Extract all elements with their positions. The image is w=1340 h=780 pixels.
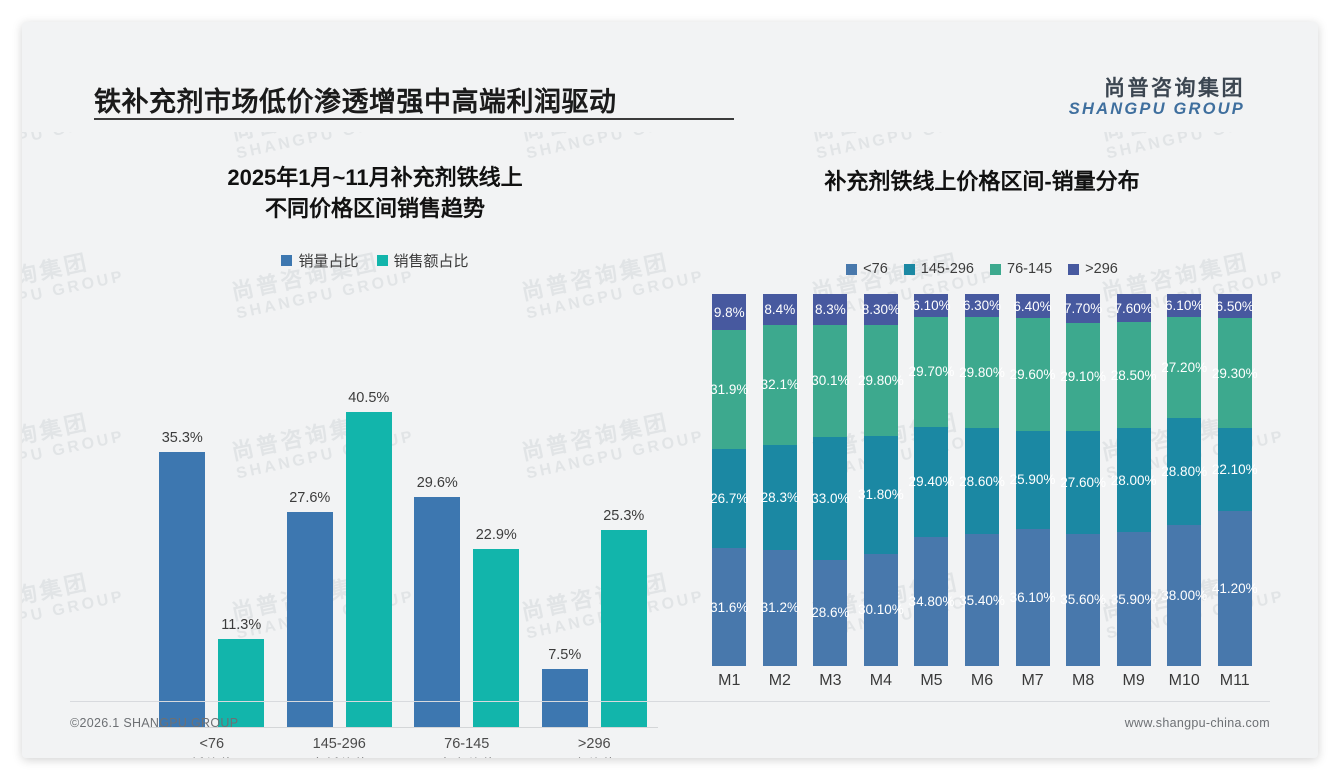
stack-segment[interactable]: 29.40% <box>914 427 948 536</box>
x-tick-range: <76 <box>148 734 276 756</box>
bar[interactable] <box>159 452 205 727</box>
stack-segment[interactable]: 35.40% <box>965 534 999 666</box>
stack-segment[interactable]: 6.50% <box>1218 294 1252 318</box>
bar-value-label: 35.3% <box>162 430 203 446</box>
x-tick-M8: M8 <box>1058 672 1109 690</box>
stack-segment-label: 29.10% <box>1060 369 1106 384</box>
bar-column[interactable]: 11.3% <box>218 639 264 727</box>
stack-segment-label: 30.1% <box>811 373 849 388</box>
stack-segment[interactable]: 26.7% <box>712 449 746 548</box>
left-chart-panel: 2025年1月~11月补充剂铁线上 不同价格区间销售趋势 销量占比销售额占比 3… <box>70 134 680 704</box>
stack-segment-label: 7.70% <box>1064 301 1102 316</box>
stack-segment[interactable]: 33.0% <box>813 437 847 560</box>
stack-segment[interactable]: 41.20% <box>1218 511 1252 666</box>
legend-item-0[interactable]: <76 <box>846 261 888 277</box>
stack-segment-label: 8.3% <box>815 302 846 317</box>
stack-segment-label: 35.40% <box>959 593 1005 608</box>
stack-segment[interactable]: 30.10% <box>864 554 898 666</box>
stack-segment-label: 6.10% <box>912 298 950 313</box>
stack-segment-label: 35.90% <box>1111 592 1157 607</box>
stack-segment[interactable]: 28.3% <box>763 445 797 550</box>
stack-segment[interactable]: 22.10% <box>1218 428 1252 511</box>
stacked-column-M11: 6.50%29.30%22.10%41.20% <box>1209 294 1260 666</box>
stack-segment-label: 29.40% <box>909 474 955 489</box>
stack-segment[interactable]: 29.30% <box>1218 318 1252 428</box>
stacked-bar[interactable]: 7.70%29.10%27.60%35.60% <box>1066 294 1100 666</box>
stack-segment-label: 28.50% <box>1111 368 1157 383</box>
stack-segment-label: 28.60% <box>959 474 1005 489</box>
footer-website: www.shangpu-china.com <box>1125 716 1270 730</box>
stack-segment-label: 31.2% <box>761 600 799 615</box>
stack-segment[interactable]: 29.70% <box>914 317 948 427</box>
x-tick-range: 145-296 <box>276 734 404 756</box>
legend-item-2[interactable]: 76-145 <box>990 261 1052 277</box>
right-chart-title: 补充剂铁线上价格区间-销量分布 <box>682 134 1282 197</box>
slide-header: 铁补充剂市场低价渗透增强中高端利润驱动 尚普咨询集团 SHANGPU GROUP <box>22 22 1318 118</box>
legend-item-0[interactable]: 销量占比 <box>281 250 358 271</box>
stack-segment-label: 29.80% <box>858 373 904 388</box>
bar-value-label: 22.9% <box>476 527 517 543</box>
stack-segment-label: 9.8% <box>714 305 745 320</box>
stack-segment-label: 8.30% <box>862 302 900 317</box>
stack-segment[interactable]: 31.80% <box>864 436 898 554</box>
bar[interactable] <box>287 512 333 727</box>
stack-segment-label: 6.50% <box>1216 299 1254 314</box>
stack-segment-label: 34.80% <box>909 594 955 609</box>
x-tick-M10: M10 <box>1159 672 1210 690</box>
stack-segment-label: 29.70% <box>909 364 955 379</box>
bar-column[interactable]: 40.5% <box>346 412 392 727</box>
stack-segment-label: 36.10% <box>1010 590 1056 605</box>
bar[interactable] <box>601 530 647 727</box>
x-tick-<76: <76(低价位) <box>148 734 276 758</box>
bar-value-label: 11.3% <box>221 617 261 633</box>
stack-segment[interactable]: 35.60% <box>1066 534 1100 666</box>
stack-segment-label: 41.20% <box>1212 581 1258 596</box>
legend-swatch-icon <box>377 255 388 266</box>
page-title: 铁补充剂市场低价渗透增强中高端利润驱动 <box>94 80 617 119</box>
x-tick-M5: M5 <box>906 672 957 690</box>
stacked-bar[interactable]: 9.8%31.9%26.7%31.6% <box>712 294 746 666</box>
bar-value-label: 29.6% <box>417 475 458 491</box>
right-chart-stacked-bars: 9.8%31.9%26.7%31.6%8.4%32.1%28.3%31.2%8.… <box>704 294 1260 666</box>
x-tick-sublabel: (中高价位) <box>403 756 531 758</box>
stack-segment-label: 8.4% <box>764 302 795 317</box>
stack-segment-label: 31.9% <box>710 382 748 397</box>
right-chart-panel: 补充剂铁线上价格区间-销量分布 <76145-29676-145>296 9.8… <box>682 134 1282 704</box>
left-chart-title-line2: 不同价格区间销售趋势 <box>70 193 680 224</box>
x-tick-M4: M4 <box>856 672 907 690</box>
stack-segment[interactable]: 27.20% <box>1167 317 1201 418</box>
stack-segment[interactable]: 35.90% <box>1117 532 1151 666</box>
bar[interactable] <box>346 412 392 727</box>
stack-segment[interactable]: 8.30% <box>864 294 898 325</box>
stack-segment-label: 28.3% <box>761 490 799 505</box>
stacked-bar[interactable]: 8.4%32.1%28.3%31.2% <box>763 294 797 666</box>
legend-item-label: 145-296 <box>921 261 974 277</box>
stacked-column-M10: 6.10%27.20%28.80%38.00% <box>1159 294 1210 666</box>
stack-segment[interactable]: 8.4% <box>763 294 797 325</box>
bar-value-label: 7.5% <box>548 647 581 663</box>
stack-segment[interactable]: 29.80% <box>965 317 999 428</box>
legend-item-label: 销售额占比 <box>394 250 469 271</box>
stacked-bar[interactable]: 6.30%29.80%28.60%35.40% <box>965 294 999 666</box>
stack-segment-label: 7.60% <box>1115 301 1153 316</box>
stacked-bar[interactable]: 6.10%27.20%28.80%38.00% <box>1167 294 1201 666</box>
stacked-column-M2: 8.4%32.1%28.3%31.2% <box>755 294 806 666</box>
stack-segment-label: 35.60% <box>1060 592 1106 607</box>
stack-segment[interactable]: 38.00% <box>1167 525 1201 666</box>
bar-column[interactable]: 7.5% <box>542 669 588 727</box>
stack-segment[interactable]: 7.70% <box>1066 294 1100 323</box>
brand-logo: 尚普咨询集团 SHANGPU GROUP <box>1069 78 1245 118</box>
stack-segment[interactable]: 30.1% <box>813 325 847 437</box>
bar[interactable] <box>218 639 264 727</box>
bar[interactable] <box>414 497 460 727</box>
legend-item-label: 销量占比 <box>298 250 358 271</box>
x-tick-145-296: 145-296(中低价位) <box>276 734 404 758</box>
stack-segment-label: 27.20% <box>1161 360 1207 375</box>
stack-segment[interactable]: 6.40% <box>1016 294 1050 318</box>
x-tick-M9: M9 <box>1108 672 1159 690</box>
stack-segment[interactable]: 31.6% <box>712 548 746 666</box>
stack-segment-label: 38.00% <box>1161 588 1207 603</box>
stack-segment-label: 28.00% <box>1111 473 1157 488</box>
x-tick-sublabel: (低价位) <box>148 756 276 758</box>
stack-segment-label: 27.60% <box>1060 475 1106 490</box>
legend-item-1[interactable]: 销售额占比 <box>377 250 469 271</box>
stacked-bar[interactable]: 6.10%29.70%29.40%34.80% <box>914 294 948 666</box>
stacked-bar[interactable]: 6.50%29.30%22.10%41.20% <box>1218 294 1252 666</box>
bar-group-145-296: 27.6%40.5% <box>276 366 404 727</box>
stacked-bar[interactable]: 6.40%29.60%25.90%36.10% <box>1016 294 1050 666</box>
stack-segment-label: 29.60% <box>1010 367 1056 382</box>
stacked-column-M8: 7.70%29.10%27.60%35.60% <box>1058 294 1109 666</box>
bar-value-label: 27.6% <box>289 490 330 506</box>
legend-item-label: <76 <box>863 261 888 277</box>
stacked-column-M6: 6.30%29.80%28.60%35.40% <box>957 294 1008 666</box>
legend-item-label: >296 <box>1085 261 1118 277</box>
stacked-column-M1: 9.8%31.9%26.7%31.6% <box>704 294 755 666</box>
stack-segment-label: 29.80% <box>959 365 1005 380</box>
x-tick-sublabel: (高价位) <box>531 756 659 758</box>
bar-value-label: 40.5% <box>348 390 389 406</box>
right-chart-plot-area: 9.8%31.9%26.7%31.6%8.4%32.1%28.3%31.2%8.… <box>704 294 1260 666</box>
bar-group-<76: 35.3%11.3% <box>148 366 276 727</box>
stacked-column-M4: 8.30%29.80%31.80%30.10% <box>856 294 907 666</box>
legend-swatch-icon <box>904 264 915 275</box>
stacked-bar[interactable]: 8.3%30.1%33.0%28.6% <box>813 294 847 666</box>
stack-segment[interactable]: 29.60% <box>1016 318 1050 430</box>
stack-segment[interactable]: 34.80% <box>914 537 948 666</box>
x-tick-M7: M7 <box>1007 672 1058 690</box>
stacked-column-M5: 6.10%29.70%29.40%34.80% <box>906 294 957 666</box>
stack-segment[interactable]: 29.80% <box>864 325 898 436</box>
stack-segment[interactable]: 7.60% <box>1117 294 1151 322</box>
stack-segment[interactable]: 31.2% <box>763 550 797 666</box>
x-tick-sublabel: (中低价位) <box>276 756 404 758</box>
x-tick-M11: M11 <box>1209 672 1260 690</box>
stack-segment-label: 30.10% <box>858 602 904 617</box>
stack-segment[interactable]: 6.30% <box>965 294 999 317</box>
stack-segment[interactable]: 32.1% <box>763 325 797 444</box>
stack-segment-label: 31.80% <box>858 487 904 502</box>
stack-segment-label: 33.0% <box>811 491 849 506</box>
legend-swatch-icon <box>281 255 292 266</box>
stack-segment-label: 32.1% <box>761 377 799 392</box>
stacked-bar[interactable]: 8.30%29.80%31.80%30.10% <box>864 294 898 666</box>
stack-segment-label: 28.80% <box>1161 464 1207 479</box>
legend-swatch-icon <box>1068 264 1079 275</box>
stack-segment-label: 6.30% <box>963 298 1001 313</box>
header-divider <box>94 118 734 120</box>
stack-segment[interactable]: 27.60% <box>1066 431 1100 534</box>
x-tick-76-145: 76-145(中高价位) <box>403 734 531 758</box>
x-tick-range: 76-145 <box>403 734 531 756</box>
bar-group->296: 7.5%25.3% <box>531 366 659 727</box>
stack-segment-label: 22.10% <box>1212 462 1258 477</box>
x-tick-M1: M1 <box>704 672 755 690</box>
stack-segment[interactable]: 6.10% <box>914 294 948 317</box>
stack-segment[interactable]: 28.00% <box>1117 428 1151 532</box>
stack-segment[interactable]: 25.90% <box>1016 431 1050 529</box>
footer-divider <box>70 701 1270 702</box>
stack-segment[interactable]: 28.60% <box>965 428 999 534</box>
stack-segment-label: 6.40% <box>1013 299 1051 314</box>
stack-segment[interactable]: 9.8% <box>712 294 746 330</box>
bar-column[interactable]: 29.6% <box>414 497 460 727</box>
bar-column[interactable]: 27.6% <box>287 512 333 727</box>
x-tick-M2: M2 <box>755 672 806 690</box>
stack-segment[interactable]: 28.6% <box>813 560 847 666</box>
stack-segment[interactable]: 8.3% <box>813 294 847 325</box>
bar[interactable] <box>542 669 588 727</box>
x-tick-M6: M6 <box>957 672 1008 690</box>
stack-segment-label: 29.30% <box>1212 366 1258 381</box>
logo-chinese-text: 尚普咨询集团 <box>1069 78 1245 100</box>
right-chart-x-axis-labels: M1M2M3M4M5M6M7M8M9M10M11 <box>704 672 1260 690</box>
legend-swatch-icon <box>990 264 1001 275</box>
stacked-column-M7: 6.40%29.60%25.90%36.10% <box>1007 294 1058 666</box>
right-chart-legend: <76145-29676-145>296 <box>682 261 1282 277</box>
left-chart-bar-groups: 35.3%11.3%27.6%40.5%29.6%22.9%7.5%25.3% <box>148 366 658 727</box>
stack-segment-label: 25.90% <box>1010 472 1056 487</box>
stack-segment-label: 28.6% <box>811 605 849 620</box>
stack-segment[interactable]: 6.10% <box>1167 294 1201 317</box>
x-tick-M3: M3 <box>805 672 856 690</box>
logo-english-text: SHANGPU GROUP <box>1069 101 1245 118</box>
bar-value-label: 25.3% <box>603 508 644 524</box>
left-chart-title-line1: 2025年1月~11月补充剂铁线上 <box>70 162 680 193</box>
bar-group-76-145: 29.6%22.9% <box>403 366 531 727</box>
legend-swatch-icon <box>846 264 857 275</box>
x-tick-range: >296 <box>531 734 659 756</box>
stack-segment[interactable]: 28.50% <box>1117 322 1151 428</box>
left-chart-plot-area: 35.3%11.3%27.6%40.5%29.6%22.9%7.5%25.3% <box>148 366 658 728</box>
stack-segment-label: 6.10% <box>1165 298 1203 313</box>
stacked-column-M9: 7.60%28.50%28.00%35.90% <box>1108 294 1159 666</box>
legend-item-1[interactable]: 145-296 <box>904 261 974 277</box>
legend-item-3[interactable]: >296 <box>1068 261 1118 277</box>
stack-segment[interactable]: 36.10% <box>1016 529 1050 666</box>
bar-column[interactable]: 25.3% <box>601 530 647 727</box>
stack-segment[interactable]: 31.9% <box>712 330 746 449</box>
slide-canvas: 尚普咨询集团SHANGPU GROUP尚普咨询集团SHANGPU GROUP尚普… <box>22 22 1318 758</box>
legend-item-label: 76-145 <box>1007 261 1052 277</box>
left-chart-title: 2025年1月~11月补充剂铁线上 不同价格区间销售趋势 <box>70 134 680 224</box>
stack-segment[interactable]: 29.10% <box>1066 323 1100 431</box>
left-chart-x-axis-labels: <76(低价位)145-296(中低价位)76-145(中高价位)>296(高价… <box>148 734 658 758</box>
stack-segment-label: 26.7% <box>710 491 748 506</box>
stacked-bar[interactable]: 7.60%28.50%28.00%35.90% <box>1117 294 1151 666</box>
stack-segment-label: 31.6% <box>710 600 748 615</box>
x-tick->296: >296(高价位) <box>531 734 659 758</box>
left-chart-legend: 销量占比销售额占比 <box>70 250 680 271</box>
bar-column[interactable]: 35.3% <box>159 452 205 727</box>
stack-segment[interactable]: 28.80% <box>1167 418 1201 525</box>
footer-copyright: ©2026.1 SHANGPU GROUP <box>70 716 238 730</box>
stacked-column-M3: 8.3%30.1%33.0%28.6% <box>805 294 856 666</box>
